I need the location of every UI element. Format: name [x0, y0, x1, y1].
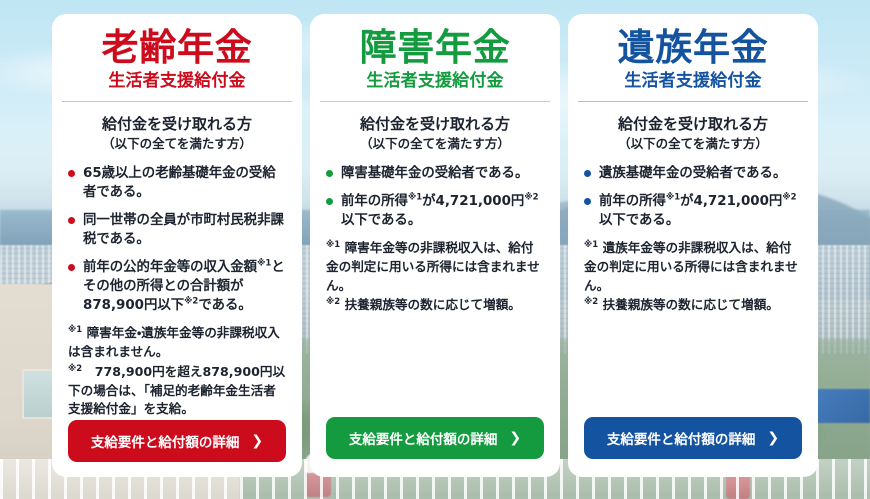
details-button-label: 支給要件と給付額の詳細 [607, 428, 756, 448]
card-subtitle: 生活者支援給付金 [62, 71, 292, 92]
condition-item: 前年の公的年金等の収入金額※1とその他の所得との合計額が878,900円以下※2… [68, 258, 286, 315]
details-button-shougai-nenkin[interactable]: 支給要件と給付額の詳細 ❯ [326, 417, 544, 459]
eligibility-heading: 給付金を受け取れる方 [68, 114, 286, 134]
card-footer: 支給要件と給付額の詳細 ❯ [310, 417, 560, 477]
details-button-label: 支給要件と給付額の詳細 [91, 431, 240, 451]
condition-item: 同一世帯の全員が市町村民税非課税である。 [68, 211, 286, 249]
note-text: ※1 障害年金・遺族年金等の非課税収入は含まれません。 [68, 324, 286, 362]
benefit-card-izoku-nenkin: 遺族年金 生活者支援給付金 給付金を受け取れる方 （以下の全てを満たす方） 遺族… [568, 14, 818, 477]
note-text: ※2 扶養親族等の数に応じて増額。 [584, 296, 802, 315]
card-subtitle: 生活者支援給付金 [320, 71, 550, 92]
eligibility-heading: 給付金を受け取れる方 [326, 114, 544, 134]
card-footer: 支給要件と給付額の詳細 ❯ [52, 420, 302, 477]
details-button-label: 支給要件と給付額の詳細 [349, 428, 498, 448]
card-header: 遺族年金 生活者支援給付金 [568, 14, 818, 102]
conditions-list: 遺族基礎年金の受給者である。前年の所得※1が4,721,000円※2以下である。 [584, 164, 802, 230]
benefit-card-rourei-nenkin: 老齢年金 生活者支援給付金 給付金を受け取れる方 （以下の全てを満たす方） 65… [52, 14, 302, 477]
eligibility-subheading: （以下の全てを満たす方） [326, 136, 544, 152]
card-header: 障害年金 生活者支援給付金 [310, 14, 560, 102]
details-button-rourei-nenkin[interactable]: 支給要件と給付額の詳細 ❯ [68, 420, 286, 462]
chevron-right-icon: ❯ [509, 431, 521, 445]
card-subtitle: 生活者支援給付金 [578, 71, 808, 92]
details-button-izoku-nenkin[interactable]: 支給要件と給付額の詳細 ❯ [584, 417, 802, 459]
note-text: ※2 778,900円を超え878,900円以下の場合は、「補足的老齢年金生活者… [68, 363, 286, 420]
note-text: ※2 扶養親族等の数に応じて増額。 [326, 296, 544, 315]
card-title: 老齢年金 [62, 28, 292, 68]
conditions-list: 障害基礎年金の受給者である。前年の所得※1が4,721,000円※2以下である。 [326, 164, 544, 230]
page-root: 老齢年金 生活者支援給付金 給付金を受け取れる方 （以下の全てを満たす方） 65… [0, 0, 870, 499]
condition-item: 前年の所得※1が4,721,000円※2以下である。 [326, 192, 544, 230]
card-title: 障害年金 [320, 28, 550, 68]
condition-item: 前年の所得※1が4,721,000円※2以下である。 [584, 192, 802, 230]
notes-block: ※1 障害年金・遺族年金等の非課税収入は含まれません。※2 778,900円を超… [68, 324, 286, 419]
card-footer: 支給要件と給付額の詳細 ❯ [568, 417, 818, 477]
eligibility-subheading: （以下の全てを満たす方） [584, 136, 802, 152]
card-header: 老齢年金 生活者支援給付金 [52, 14, 302, 102]
eligibility-subheading: （以下の全てを満たす方） [68, 136, 286, 152]
condition-item: 遺族基礎年金の受給者である。 [584, 164, 802, 183]
note-text: ※1 遺族年金等の非課税収入は、給付金の判定に用いる所得には含まれません。 [584, 239, 802, 296]
card-body: 給付金を受け取れる方 （以下の全てを満たす方） 障害基礎年金の受給者である。前年… [310, 102, 560, 417]
chevron-right-icon: ❯ [251, 434, 263, 448]
card-title: 遺族年金 [578, 28, 808, 68]
card-body: 給付金を受け取れる方 （以下の全てを満たす方） 65歳以上の老齢基礎年金の受給者… [52, 102, 302, 420]
benefit-cards-row: 老齢年金 生活者支援給付金 給付金を受け取れる方 （以下の全てを満たす方） 65… [0, 0, 870, 499]
note-text: ※1 障害年金等の非課税収入は、給付金の判定に用いる所得には含まれません。 [326, 239, 544, 296]
card-body: 給付金を受け取れる方 （以下の全てを満たす方） 遺族基礎年金の受給者である。前年… [568, 102, 818, 417]
condition-item: 障害基礎年金の受給者である。 [326, 164, 544, 183]
notes-block: ※1 障害年金等の非課税収入は、給付金の判定に用いる所得には含まれません。※2 … [326, 239, 544, 316]
chevron-right-icon: ❯ [767, 431, 779, 445]
conditions-list: 65歳以上の老齢基礎年金の受給者である。同一世帯の全員が市町村民税非課税である。… [68, 164, 286, 315]
notes-block: ※1 遺族年金等の非課税収入は、給付金の判定に用いる所得には含まれません。※2 … [584, 239, 802, 316]
condition-item: 65歳以上の老齢基礎年金の受給者である。 [68, 164, 286, 202]
benefit-card-shougai-nenkin: 障害年金 生活者支援給付金 給付金を受け取れる方 （以下の全てを満たす方） 障害… [310, 14, 560, 477]
eligibility-heading: 給付金を受け取れる方 [584, 114, 802, 134]
